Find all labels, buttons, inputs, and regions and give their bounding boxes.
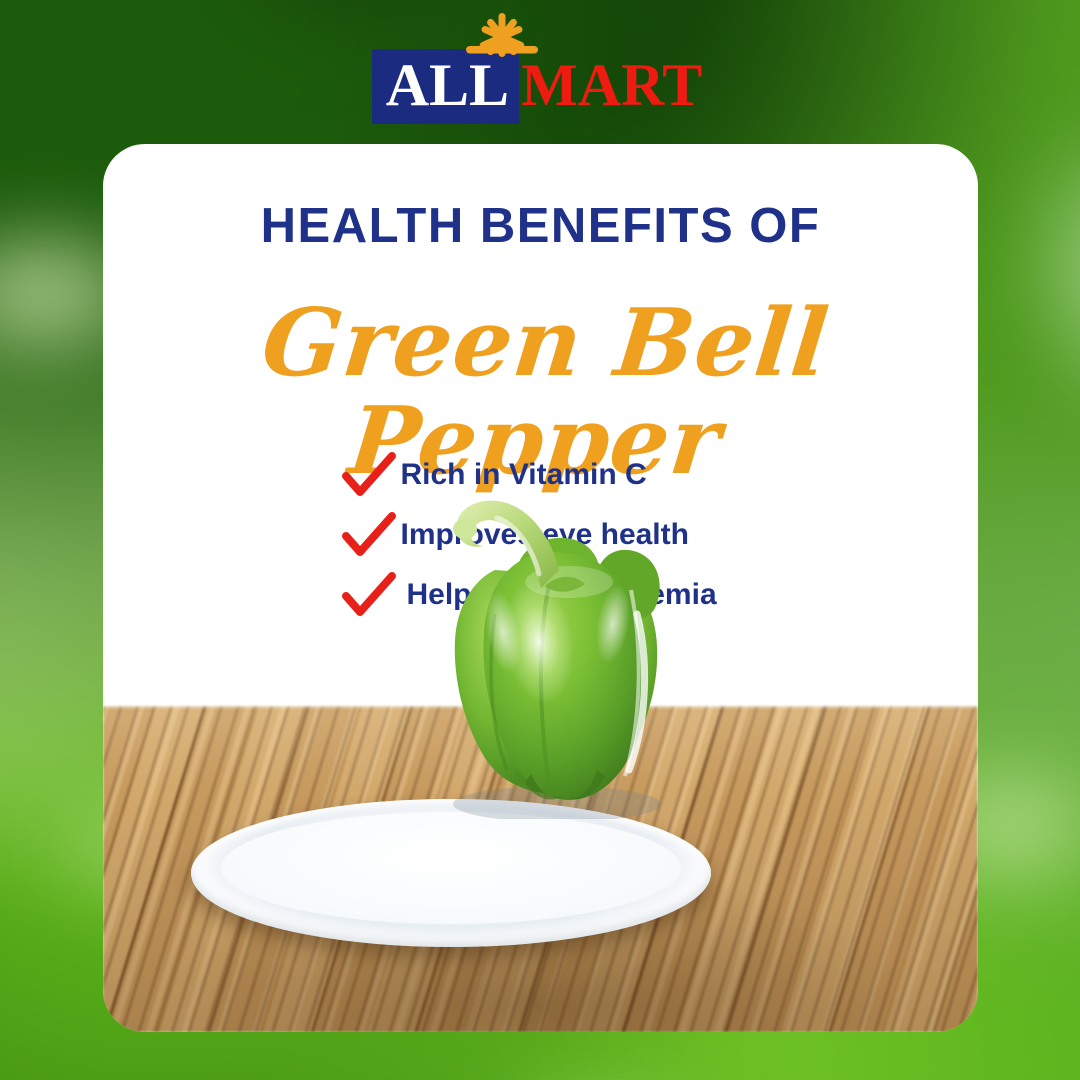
brand-logo[interactable]: ALL MART — [0, 28, 1080, 124]
poster: ALL MART HEALTH BENEFITS OF Green Bell P… — [0, 0, 1080, 1080]
brand-name-all: ALL — [372, 49, 519, 124]
content-card: HEALTH BENEFITS OF Green Bell Pepper Ric… — [103, 144, 978, 1032]
brand-name-mart: MART — [519, 49, 708, 124]
sunburst-icon — [460, 13, 544, 59]
plate-inner-rim — [221, 812, 681, 924]
green-bell-pepper-image — [399, 474, 709, 819]
